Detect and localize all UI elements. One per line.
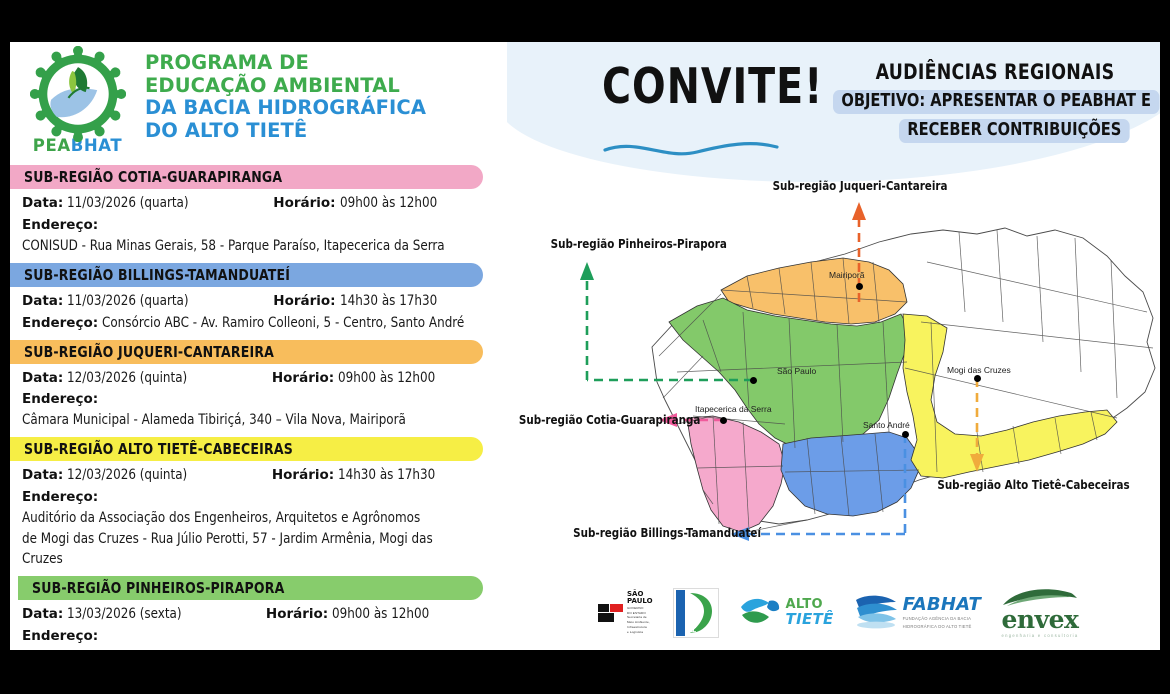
swoosh-underline-icon — [601, 138, 781, 165]
semil-fehidro-logo: FEHIDRO — [673, 588, 719, 638]
address-value: Sala de reuniões do CONSEMA - Av. Prof. … — [22, 647, 430, 650]
section-title: SUB-REGIÃO ALTO TIETÊ-CABECEIRAS — [24, 440, 293, 458]
fehidro-text: FEHIDRO — [691, 601, 698, 633]
city-label-mogi-das-cruzes: Mogi das Cruzes — [947, 365, 1011, 375]
fabhat-name: FABHAT — [903, 596, 981, 614]
brand-line-3: DA BACIA HIDROGRÁFICA — [145, 97, 426, 120]
map-label-alto-tiete-cabeceiras: Sub-região Alto Tietê-Cabeceiras — [937, 477, 1129, 492]
section-body-alto-tiete-cabeceiras: Data: 12/03/2026 (quinta) Horário: 14h30… — [10, 461, 507, 576]
date-time-row: Data: 11/03/2026 (quarta) Horário: 09h00… — [22, 193, 497, 215]
section-body-juqueri-cantareira: Data: 12/03/2026 (quinta) Horário: 09h00… — [10, 364, 507, 438]
date-time-row: Data: 11/03/2026 (quarta) Horário: 14h30… — [22, 291, 497, 313]
time-value: 14h30 às 17h30 — [340, 291, 437, 312]
map-panel: CONVITE! AUDIÊNCIAS REGIONAIS OBJETIVO: … — [507, 42, 1160, 650]
city-dot-itapecerica-da-serra — [720, 417, 727, 424]
poster: PEABHAT PROGRAMA DE EDUCAÇÃO AMBIENTAL D… — [10, 42, 1160, 650]
peabhat-logo-icon — [30, 46, 126, 142]
address-label: Endereço: — [22, 315, 98, 331]
brand-header: PEABHAT PROGRAMA DE EDUCAÇÃO AMBIENTAL D… — [10, 42, 507, 165]
time-value: 09h00 às 12h00 — [338, 368, 435, 389]
date-time-row: Data: 12/03/2026 (quinta) Horário: 14h30… — [22, 465, 497, 487]
fabhat-sub2: HIDROGRÁFICA DO ALTO TIETÊ — [903, 624, 981, 630]
time-value: 09h00 às 12h00 — [332, 604, 429, 625]
map-label-pinheiros-pirapora: Sub-região Pinheiros-Pirapora — [551, 236, 727, 251]
events-panel: PEABHAT PROGRAMA DE EDUCAÇÃO AMBIENTAL D… — [10, 42, 507, 650]
address-row: Endereço: Auditório da Associação dos En… — [22, 487, 497, 529]
date-value: 12/03/2026 (quinta) — [67, 465, 187, 486]
city-dot-santo-andre — [902, 431, 909, 438]
envex-logo: envex engenharia e consultoria — [1001, 588, 1079, 638]
alto-tiete-wordmark: ALTO TIETÊ — [786, 599, 834, 626]
section-body-cotia-guarapiranga: Data: 11/03/2026 (quarta) Horário: 09h00… — [10, 189, 507, 263]
time-label: Horário: — [272, 370, 334, 386]
brand-title-block: PROGRAMA DE EDUCAÇÃO AMBIENTAL DA BACIA … — [145, 42, 426, 142]
map-label-juqueri-cantareira: Sub-região Juqueri-Cantareira — [773, 178, 948, 193]
section-bar-alto-tiete-cabeceiras: SUB-REGIÃO ALTO TIETÊ-CABECEIRAS — [10, 437, 483, 461]
date-time-row: Data: 13/03/2026 (sexta) Horário: 09h00 … — [22, 604, 497, 626]
section-bar-pinheiros-pirapora: SUB-REGIÃO PINHEIROS-PIRAPORA — [18, 576, 483, 600]
address-value: Consórcio ABC - Av. Ramiro Colleoni, 5 -… — [102, 313, 464, 333]
section-body-pinheiros-pirapora: Data: 13/03/2026 (sexta) Horário: 09h00 … — [10, 600, 507, 650]
date-label: Data: — [22, 293, 63, 309]
section-bar-juqueri-cantareira: SUB-REGIÃO JUQUERI-CANTAREIRA — [10, 340, 483, 364]
tiete-text: TIETÊ — [786, 612, 834, 627]
brand-line-2: EDUCAÇÃO AMBIENTAL — [145, 75, 426, 98]
city-label-itapecerica-da-serra: Itapecerica da Serra — [695, 404, 772, 414]
date-time-row: Data: 12/03/2026 (quinta) Horário: 09h00… — [22, 368, 497, 390]
envex-tagline: engenharia e consultoria — [1001, 633, 1078, 638]
alto-tiete-mark-icon — [739, 595, 781, 632]
section-title: SUB-REGIÃO COTIA-GUARAPIRANGA — [24, 168, 282, 186]
governo-sao-paulo-logo: SÃO PAULO GOVERNO DO ESTADO Secretaria d… — [598, 591, 653, 635]
section-title: SUB-REGIÃO JUQUERI-CANTAREIRA — [24, 343, 274, 361]
date-label: Data: — [22, 370, 63, 386]
date-value: 11/03/2026 (quarta) — [67, 193, 189, 214]
address-row: Endereço: Consórcio ABC - Av. Ramiro Col… — [22, 313, 497, 334]
map-label-cotia-guarapiranga: Sub-região Cotia-Guarapiranga — [519, 412, 700, 427]
city-dot-mogi-das-cruzes — [974, 375, 981, 382]
partner-logos-strip: SÃO PAULO GOVERNO DO ESTADO Secretaria d… — [507, 582, 1160, 644]
alto-tiete-logo: ALTO TIETÊ — [739, 595, 834, 632]
time-value: 14h30 às 17h30 — [338, 465, 435, 486]
sub-regions-map: Sub-região Juqueri-Cantareira Sub-região… — [507, 172, 1160, 562]
address-row: Endereço: Sala de reuniões do CONSEMA - … — [22, 626, 497, 650]
objetivo-badge-line1: OBJETIVO: APRESENTAR O PEABHAT E — [833, 90, 1159, 114]
address-value: Câmara Municipal - Alameda Tibiriçá, 340… — [22, 410, 406, 430]
brand-line-1: PROGRAMA DE — [145, 52, 426, 75]
address-row-continued: de Mogi das Cruzes - Rua Júlio Perotti, … — [22, 529, 497, 570]
address-row: Endereço: Câmara Municipal - Alameda Tib… — [22, 389, 497, 431]
audiencias-title: AUDIÊNCIAS REGIONAIS — [857, 60, 1133, 84]
objetivo-badge-line2: RECEBER CONTRIBUIÇÕES — [899, 119, 1130, 143]
date-value: 13/03/2026 (sexta) — [67, 604, 182, 625]
address-label: Endereço: — [22, 391, 98, 407]
section-title: SUB-REGIÃO PINHEIROS-PIRAPORA — [32, 579, 285, 597]
fabhat-sub1: FUNDAÇÃO AGÊNCIA DA BACIA — [903, 616, 981, 622]
date-label: Data: — [22, 195, 63, 211]
address-label: Endereço: — [22, 217, 98, 233]
city-label-sao-paulo: São Paulo — [777, 366, 816, 376]
city-label-santo-andre: Santo André — [863, 420, 910, 430]
fabhat-mark-icon — [854, 592, 898, 635]
city-dot-mairipora — [856, 283, 863, 290]
section-bar-cotia-guarapiranga: SUB-REGIÃO COTIA-GUARAPIRANGA — [10, 165, 483, 189]
address-value: Auditório da Associação dos Engenheiros,… — [22, 508, 420, 528]
brand-line-4: DO ALTO TIETÊ — [145, 120, 426, 143]
fabhat-wordmark: FABHAT FUNDAÇÃO AGÊNCIA DA BACIA HIDROGR… — [903, 596, 981, 629]
section-title: SUB-REGIÃO BILLINGS-TAMANDUATEÍ — [24, 266, 290, 284]
date-label: Data: — [22, 467, 63, 483]
time-value: 09h00 às 12h00 — [340, 193, 437, 214]
time-label: Horário: — [272, 467, 334, 483]
section-body-billings-tamanduatei: Data: 11/03/2026 (quarta) Horário: 14h30… — [10, 287, 507, 340]
address-row: Endereço: CONISUD - Rua Minas Gerais, 58… — [22, 215, 497, 257]
date-value: 12/03/2026 (quinta) — [67, 368, 187, 389]
sao-paulo-flag-icon — [598, 602, 624, 624]
city-label-mairipora: Mairiporã — [829, 270, 864, 280]
time-label: Horário: — [273, 195, 335, 211]
fehidro-mark-icon: FEHIDRO — [673, 588, 719, 638]
date-label: Data: — [22, 606, 63, 622]
sp-title-line2: PAULO — [627, 598, 653, 605]
section-bar-billings-tamanduatei: SUB-REGIÃO BILLINGS-TAMANDUATEÍ — [10, 263, 483, 287]
map-svg — [507, 172, 1160, 562]
convite-heading: CONVITE! — [602, 58, 823, 115]
map-label-billings-tamanduatei: Sub-região Billings-Tamanduateí — [573, 525, 761, 540]
address-value-line2: de Mogi das Cruzes - Rua Júlio Perotti, … — [22, 529, 473, 570]
time-label: Horário: — [273, 293, 335, 309]
logo-wrap: PEABHAT — [10, 42, 145, 155]
address-label: Endereço: — [22, 628, 98, 644]
date-value: 11/03/2026 (quarta) — [67, 291, 189, 312]
time-label: Horário: — [266, 606, 328, 622]
address-label: Endereço: — [22, 489, 98, 505]
sp-sub6: e Logística — [627, 631, 653, 635]
sao-paulo-wordmark: SÃO PAULO GOVERNO DO ESTADO Secretaria d… — [627, 591, 653, 635]
fabhat-logo: FABHAT FUNDAÇÃO AGÊNCIA DA BACIA HIDROGR… — [854, 592, 981, 635]
envex-wordmark: envex — [1002, 609, 1079, 632]
address-value: CONISUD - Rua Minas Gerais, 58 - Parque … — [22, 236, 445, 256]
city-dot-sao-paulo — [750, 377, 757, 384]
